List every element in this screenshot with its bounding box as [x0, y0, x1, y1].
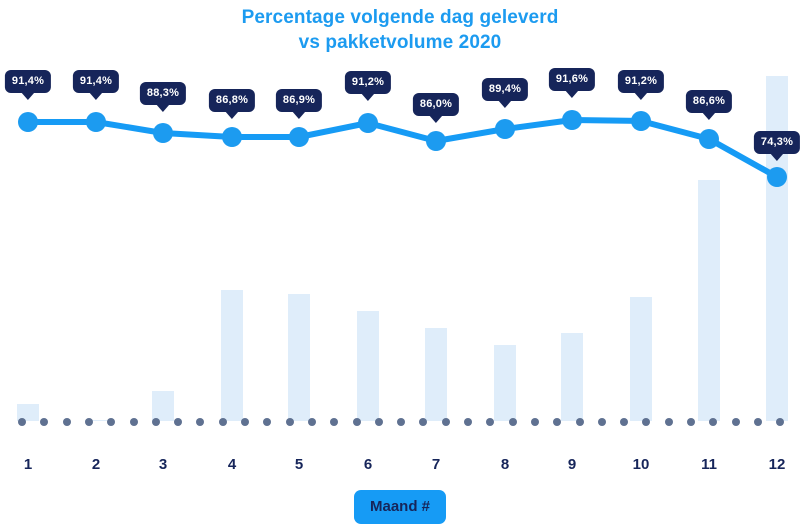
- x-tick-9: 9: [568, 456, 576, 473]
- x-tick-2: 2: [92, 456, 100, 473]
- line-marker-month-6[interactable]: [358, 113, 378, 133]
- data-label-month-12: 74,3%: [754, 131, 800, 154]
- line-marker-month-4[interactable]: [222, 127, 242, 147]
- line-marker-month-12[interactable]: [767, 167, 787, 187]
- data-label-month-8: 89,4%: [482, 78, 528, 101]
- x-axis-title-wrap: Maand #: [0, 490, 800, 524]
- line-marker-month-7[interactable]: [426, 131, 446, 151]
- x-tick-7: 7: [432, 456, 440, 473]
- line-marker-month-3[interactable]: [153, 123, 173, 143]
- data-label-month-11: 86,6%: [686, 90, 732, 113]
- data-label-month-5: 86,9%: [276, 89, 322, 112]
- x-tick-12: 12: [769, 456, 786, 473]
- data-label-month-2: 91,4%: [73, 70, 119, 93]
- data-label-month-6: 91,2%: [345, 71, 391, 94]
- x-tick-8: 8: [501, 456, 509, 473]
- data-label-month-1: 91,4%: [5, 70, 51, 93]
- data-label-month-9: 91,6%: [549, 68, 595, 91]
- x-tick-11: 11: [701, 456, 717, 473]
- x-axis-ticks: 123456789101112: [0, 448, 800, 488]
- line-series-percentage: [0, 0, 800, 448]
- data-label-month-10: 91,2%: [618, 70, 664, 93]
- line-marker-month-5[interactable]: [289, 127, 309, 147]
- data-label-month-3: 88,3%: [140, 82, 186, 105]
- line-marker-month-9[interactable]: [562, 110, 582, 130]
- line-marker-month-10[interactable]: [631, 111, 651, 131]
- x-axis-title-pill: Maand #: [354, 490, 446, 524]
- line-marker-month-1[interactable]: [18, 112, 38, 132]
- data-label-month-7: 86,0%: [413, 93, 459, 116]
- x-tick-1: 1: [24, 456, 32, 473]
- x-tick-6: 6: [364, 456, 372, 473]
- data-label-month-4: 86,8%: [209, 89, 255, 112]
- line-marker-month-8[interactable]: [495, 119, 515, 139]
- x-tick-4: 4: [228, 456, 236, 473]
- line-marker-month-2[interactable]: [86, 112, 106, 132]
- x-tick-5: 5: [295, 456, 303, 473]
- chart-root: Percentage volgende dag geleverd vs pakk…: [0, 0, 800, 532]
- x-tick-3: 3: [159, 456, 167, 473]
- line-marker-month-11[interactable]: [699, 129, 719, 149]
- line-path: [28, 120, 777, 177]
- plot-area: 91,4%91,4%88,3%86,8%86,9%91,2%86,0%89,4%…: [0, 0, 800, 448]
- x-tick-10: 10: [633, 456, 650, 473]
